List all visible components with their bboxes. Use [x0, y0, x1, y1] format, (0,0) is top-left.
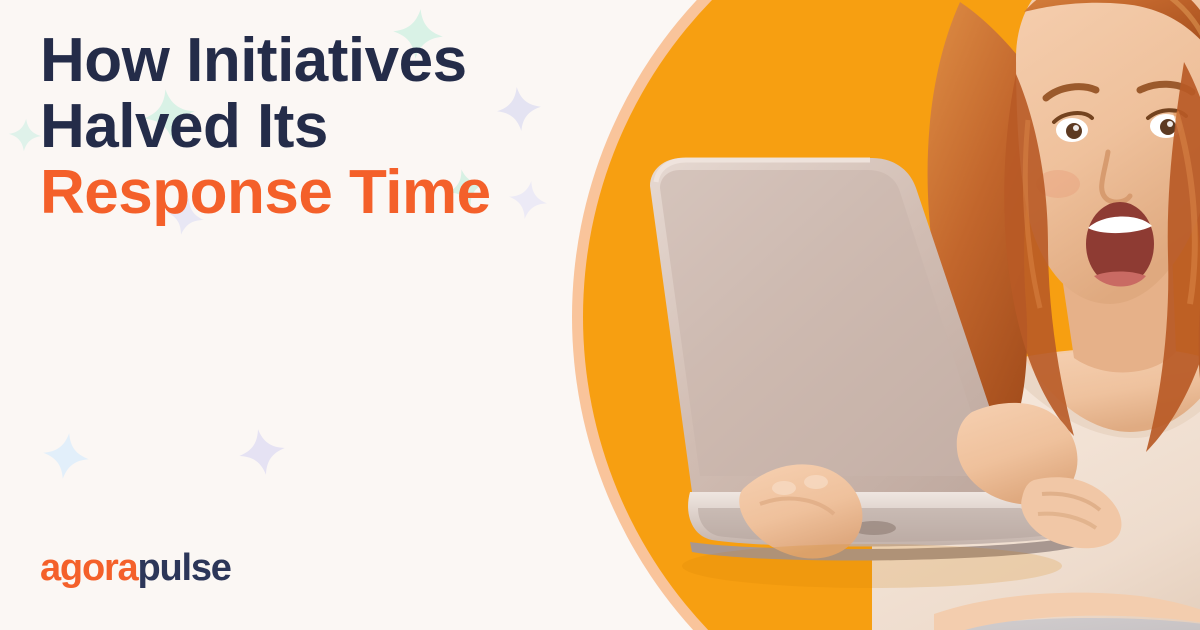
logo-text-pulse: pulse [137, 547, 230, 589]
headline-line-1: How Initiatives [40, 28, 580, 94]
banner-root: How Initiatives Halved Its Response Time… [0, 0, 1200, 630]
headline-line-3: Response Time [40, 160, 580, 226]
page-title: How Initiatives Halved Its Response Time [40, 28, 580, 226]
sparkle-lavender-bottom-icon [234, 424, 290, 480]
sparkle-mint-far-left-icon [7, 117, 43, 153]
logo-text-agora: agora [40, 547, 137, 589]
agorapulse-logo[interactable]: agorapulse [40, 548, 231, 588]
sparkle-blue-bottom-left-icon [39, 429, 93, 483]
hero-photo [572, 0, 1200, 630]
headline-line-2: Halved Its [40, 94, 580, 160]
